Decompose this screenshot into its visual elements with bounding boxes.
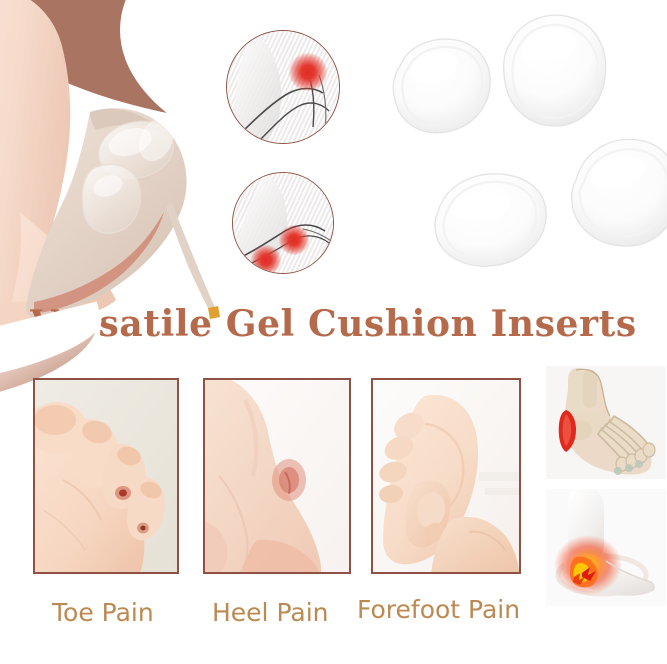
foot-lineart xyxy=(227,31,339,143)
gel-pad-bottom-right xyxy=(558,128,667,263)
forefoot-pain-photo xyxy=(371,378,521,574)
foot-lineart xyxy=(233,173,333,273)
toe-area-pain-closeup xyxy=(226,30,340,144)
toe-pain-photo xyxy=(33,378,179,574)
gel-pad-bottom-left xyxy=(424,158,559,278)
caption-heel-pain: Heel Pain xyxy=(212,598,329,627)
heel-area-pain-closeup xyxy=(232,172,334,274)
product-marketing-image: Versatile Gel Cushion Inserts xyxy=(0,0,667,664)
pain-spot xyxy=(251,245,281,274)
gel-pad-top-right xyxy=(487,6,622,141)
heel-pain-glow-diagram xyxy=(546,489,666,606)
heel-pain-photo xyxy=(203,378,351,574)
leg-in-high-heel-illustration xyxy=(0,0,240,330)
gel-pad-top-left xyxy=(382,28,502,148)
caption-forefoot-pain: Forefoot Pain xyxy=(357,595,520,624)
pain-spot xyxy=(289,53,327,91)
foot-bone-anatomy-diagram xyxy=(546,366,666,479)
pain-spot xyxy=(279,225,309,255)
caption-toe-pain: Toe Pain xyxy=(52,598,154,627)
